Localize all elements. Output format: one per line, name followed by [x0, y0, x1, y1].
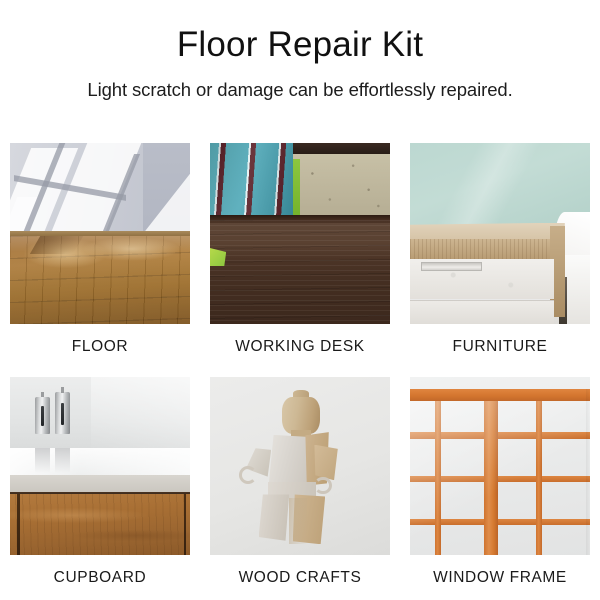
desk-curtain-shading [210, 143, 293, 217]
gallery-item-working-desk[interactable]: WORKING DESK [210, 143, 390, 358]
desk-surface-sheen [210, 223, 390, 259]
furniture-bedding-lower [565, 255, 590, 324]
grinder-reflection-left [35, 448, 50, 473]
minifigure-leg-shading [289, 498, 307, 544]
desk-top-dark-band [293, 143, 390, 154]
window-right-edge-shade [586, 389, 591, 555]
furniture-thumbnail-icon[interactable] [410, 143, 590, 324]
pepper-grinder-icon [55, 392, 70, 434]
minifigure-head [282, 397, 320, 434]
gallery-item-cupboard[interactable]: CUPBOARD [10, 377, 190, 589]
furniture-wall-light-streak [428, 143, 554, 228]
page-title: Floor Repair Kit [0, 26, 600, 65]
caption-wood-crafts: WOOD CRAFTS [210, 555, 390, 589]
cupboard-door-gap-right [184, 494, 187, 555]
window-mullion-2 [536, 401, 542, 555]
grinder-slot [41, 406, 44, 425]
page-subtitle: Light scratch or damage can be effortles… [0, 79, 600, 101]
working-desk-thumbnail-icon[interactable] [210, 143, 390, 324]
product-gallery-grid: FLOOR WORKING DESK [10, 143, 590, 589]
grinder-slot [61, 403, 64, 425]
grinder-knob [61, 387, 64, 393]
cupboard-wall-light [91, 377, 190, 452]
gallery-item-wood-crafts[interactable]: WOOD CRAFTS [210, 377, 390, 589]
nightstand-top-edge [410, 239, 565, 259]
gallery-item-floor[interactable]: FLOOR [10, 143, 190, 358]
header: Floor Repair Kit Light scratch or damage… [0, 0, 600, 101]
minifigure-right-hand [314, 477, 332, 495]
caption-window-frame: WINDOW FRAME [410, 555, 590, 589]
grinder-reflection-right [55, 448, 70, 473]
floor-sunlight-glow-right [82, 237, 181, 261]
minifigure-right-arm [314, 445, 337, 481]
window-frame-thumbnail-icon[interactable] [410, 377, 590, 555]
cupboard-thumbnail-icon[interactable] [10, 377, 190, 555]
floor-thumbnail-icon[interactable] [10, 143, 190, 324]
cupboard-door-gap-left [17, 494, 20, 555]
caption-furniture: FURNITURE [410, 324, 590, 358]
desk-wall-texture [293, 154, 390, 219]
wooden-minifigure [210, 377, 390, 555]
cupboard-wood-grain [10, 494, 190, 555]
caption-floor: FLOOR [10, 324, 190, 358]
drawer-handle [421, 262, 482, 270]
window-top-rail [410, 389, 590, 401]
caption-working-desk: WORKING DESK [210, 324, 390, 358]
minifigure-left-hand [239, 466, 257, 484]
infographic-page: Floor Repair Kit Light scratch or damage… [0, 0, 600, 600]
salt-grinder-icon [35, 397, 50, 434]
window-center-post [484, 389, 498, 555]
wood-crafts-thumbnail-icon[interactable] [210, 377, 390, 555]
grinder-knob [41, 392, 44, 397]
gallery-item-furniture[interactable]: FURNITURE [410, 143, 590, 358]
gallery-item-window-frame[interactable]: WINDOW FRAME [410, 377, 590, 589]
countertop-front-edge [10, 475, 190, 493]
nightstand-drawer-lower [410, 300, 554, 324]
minifigure-left-leg [259, 494, 290, 540]
window-mullion-1 [435, 401, 441, 555]
caption-cupboard: CUPBOARD [10, 555, 190, 589]
